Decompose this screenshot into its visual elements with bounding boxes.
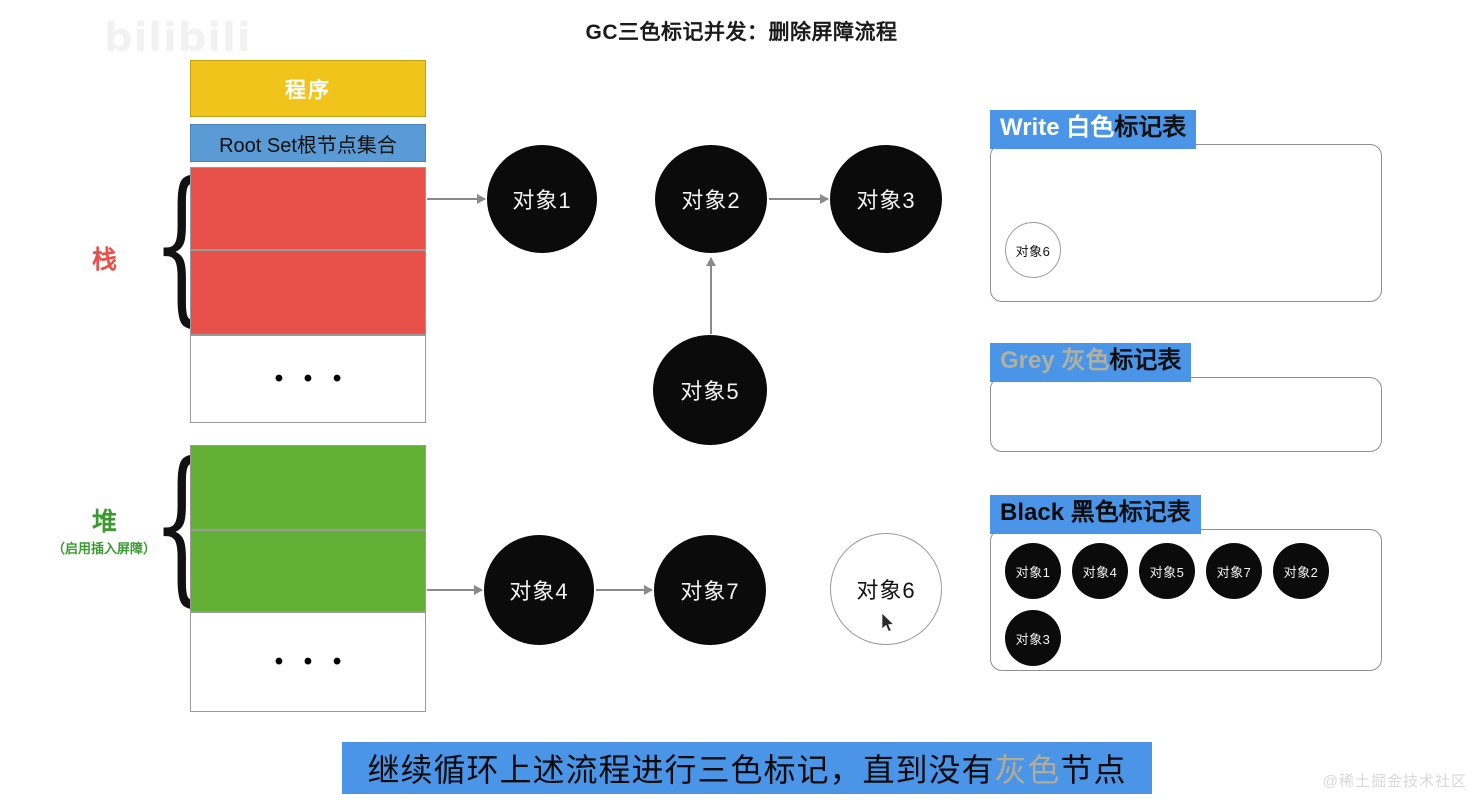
black-mark-table-tail: 标记表 [1119, 499, 1191, 526]
grey-mark-table-body [990, 377, 1382, 452]
black-mark-table-lead: Black 黑色 [1000, 499, 1119, 526]
page-title: GC三色标记并发：删除屏障流程 [0, 16, 1483, 46]
white-mark-table-lead: Write 白色 [1000, 114, 1114, 141]
graph-node-label: 对象6 [856, 573, 915, 605]
grey-mark-table-tail: 标记表 [1109, 347, 1181, 374]
graph-node-label: 对象5 [680, 374, 739, 406]
mark-chip-label: 对象4 [1083, 562, 1118, 581]
mark-chip[interactable]: 对象5 [1139, 543, 1195, 599]
graph-node-obj7[interactable]: 对象7 [654, 535, 766, 645]
arrow-obj5-to-obj2 [710, 258, 712, 334]
graph-node-label: 对象3 [856, 183, 915, 215]
caption-highlight: 灰色 [994, 745, 1060, 791]
caption-part-1: 继续循环上述流程进行三色标记，直到没有 [367, 745, 994, 791]
mark-chip[interactable]: 对象1 [1005, 543, 1061, 599]
black-mark-table-header: Black 黑色标记表 [990, 495, 1201, 534]
heap-ellipsis: • • • [268, 650, 349, 674]
arrow-heap-to-obj4 [427, 589, 482, 591]
stack-label: 栈 [92, 240, 118, 276]
site-watermark: @稀土掘金技术社区 [1323, 770, 1467, 791]
bottom-caption: 继续循环上述流程进行三色标记，直到没有灰色节点 [342, 742, 1152, 794]
black-mark-table-chips-row-1: 对象1 对象4 对象5 对象7 对象2 [1005, 543, 1329, 599]
mark-chip[interactable]: 对象3 [1005, 610, 1061, 666]
white-mark-table-chips: 对象6 [1005, 222, 1061, 278]
caption-part-2: 节点 [1061, 745, 1127, 791]
mouse-cursor-icon [882, 613, 896, 633]
stack-ellipsis: • • • [268, 367, 349, 391]
mark-chip[interactable]: 对象6 [1005, 222, 1061, 278]
arrow-rootset-to-obj1 [427, 198, 485, 200]
white-mark-table-tail: 标记表 [1114, 114, 1186, 141]
arrow-obj2-to-obj3 [769, 198, 828, 200]
mark-chip[interactable]: 对象7 [1206, 543, 1262, 599]
arrow-obj4-to-obj7 [596, 589, 652, 591]
stack-slot-1 [190, 167, 426, 250]
heap-sublabel: （启用插入屏障） [52, 538, 156, 557]
program-box: 程序 [190, 60, 426, 117]
heap-slot-1 [190, 445, 426, 530]
grey-mark-table-lead: Grey 灰色 [1000, 347, 1109, 374]
root-set-box: Root Set根节点集合 [190, 124, 426, 162]
stack-ellipsis-slot: • • • [190, 335, 426, 423]
root-set-label: Root Set根节点集合 [219, 129, 397, 158]
graph-node-obj4[interactable]: 对象4 [484, 535, 594, 645]
black-mark-table-chips-row-2: 对象3 [1005, 610, 1061, 666]
program-label: 程序 [285, 74, 331, 104]
mark-chip-label: 对象7 [1217, 562, 1252, 581]
mark-chip-label: 对象6 [1016, 241, 1051, 260]
graph-node-obj2[interactable]: 对象2 [655, 145, 767, 253]
heap-slot-2 [190, 530, 426, 612]
white-mark-table-header: Write 白色标记表 [990, 110, 1196, 149]
graph-node-obj3[interactable]: 对象3 [830, 145, 942, 253]
stack-slot-2 [190, 250, 426, 335]
graph-node-obj5[interactable]: 对象5 [653, 335, 767, 445]
graph-node-label: 对象4 [509, 574, 568, 606]
mark-chip[interactable]: 对象2 [1273, 543, 1329, 599]
grey-mark-table-header: Grey 灰色标记表 [990, 343, 1191, 382]
heap-label: 堆 [92, 502, 118, 538]
mark-chip-label: 对象5 [1150, 562, 1185, 581]
graph-node-label: 对象7 [680, 574, 739, 606]
graph-node-label: 对象2 [681, 183, 740, 215]
graph-node-obj1[interactable]: 对象1 [487, 145, 597, 253]
mark-chip[interactable]: 对象4 [1072, 543, 1128, 599]
mark-chip-label: 对象3 [1016, 629, 1051, 648]
mark-chip-label: 对象1 [1016, 562, 1051, 581]
mark-chip-label: 对象2 [1284, 562, 1319, 581]
graph-node-label: 对象1 [512, 183, 571, 215]
heap-ellipsis-slot: • • • [190, 612, 426, 712]
